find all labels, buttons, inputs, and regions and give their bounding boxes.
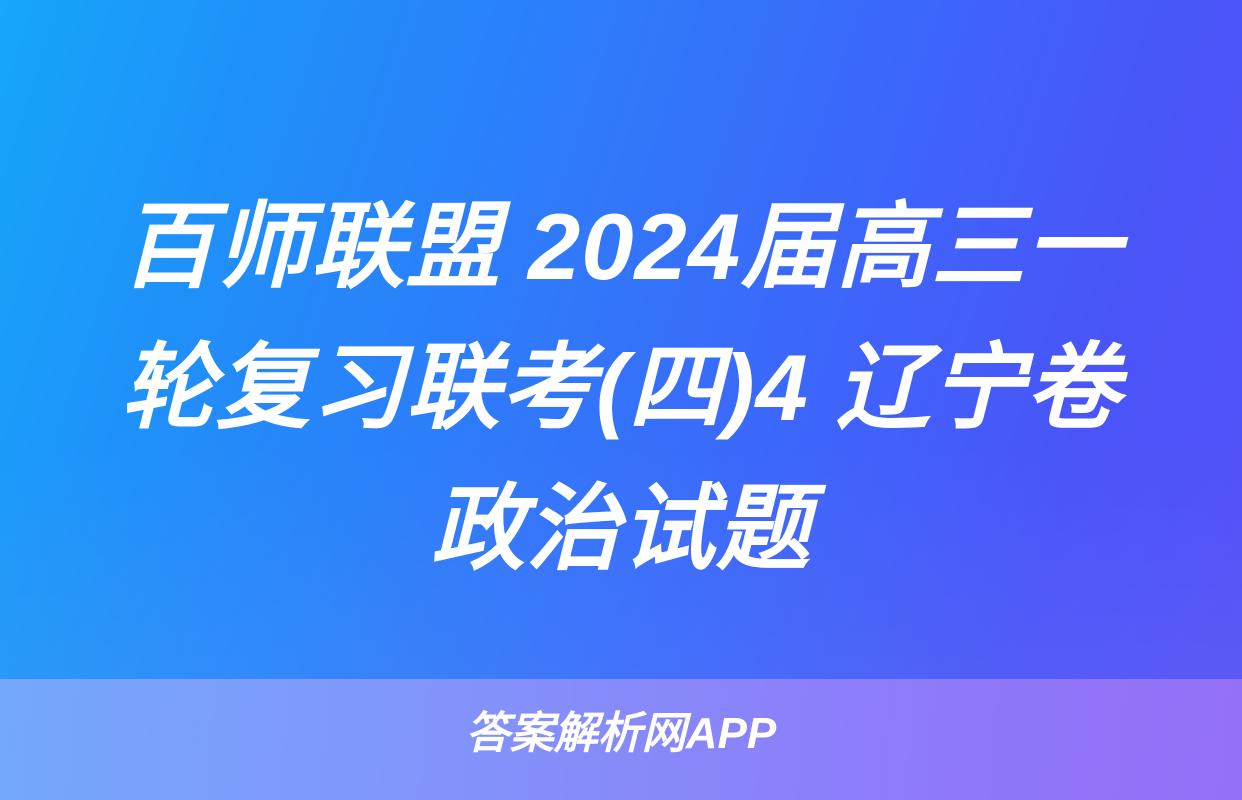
title-line-3: 政治试题 xyxy=(0,458,1242,599)
watermark-label: 答案解析网APP xyxy=(466,706,776,762)
title-line-2: 轮复习联考(四)4 辽宁卷 xyxy=(0,317,1242,458)
cover-card: 百师联盟 2024届高三一 轮复习联考(四)4 辽宁卷 政治试题 答案解析网AP… xyxy=(0,0,1242,800)
title-line-1: 百师联盟 2024届高三一 xyxy=(0,176,1242,317)
page-title: 百师联盟 2024届高三一 轮复习联考(四)4 辽宁卷 政治试题 xyxy=(0,176,1242,599)
watermark: 答案解析网APP xyxy=(0,706,1242,762)
